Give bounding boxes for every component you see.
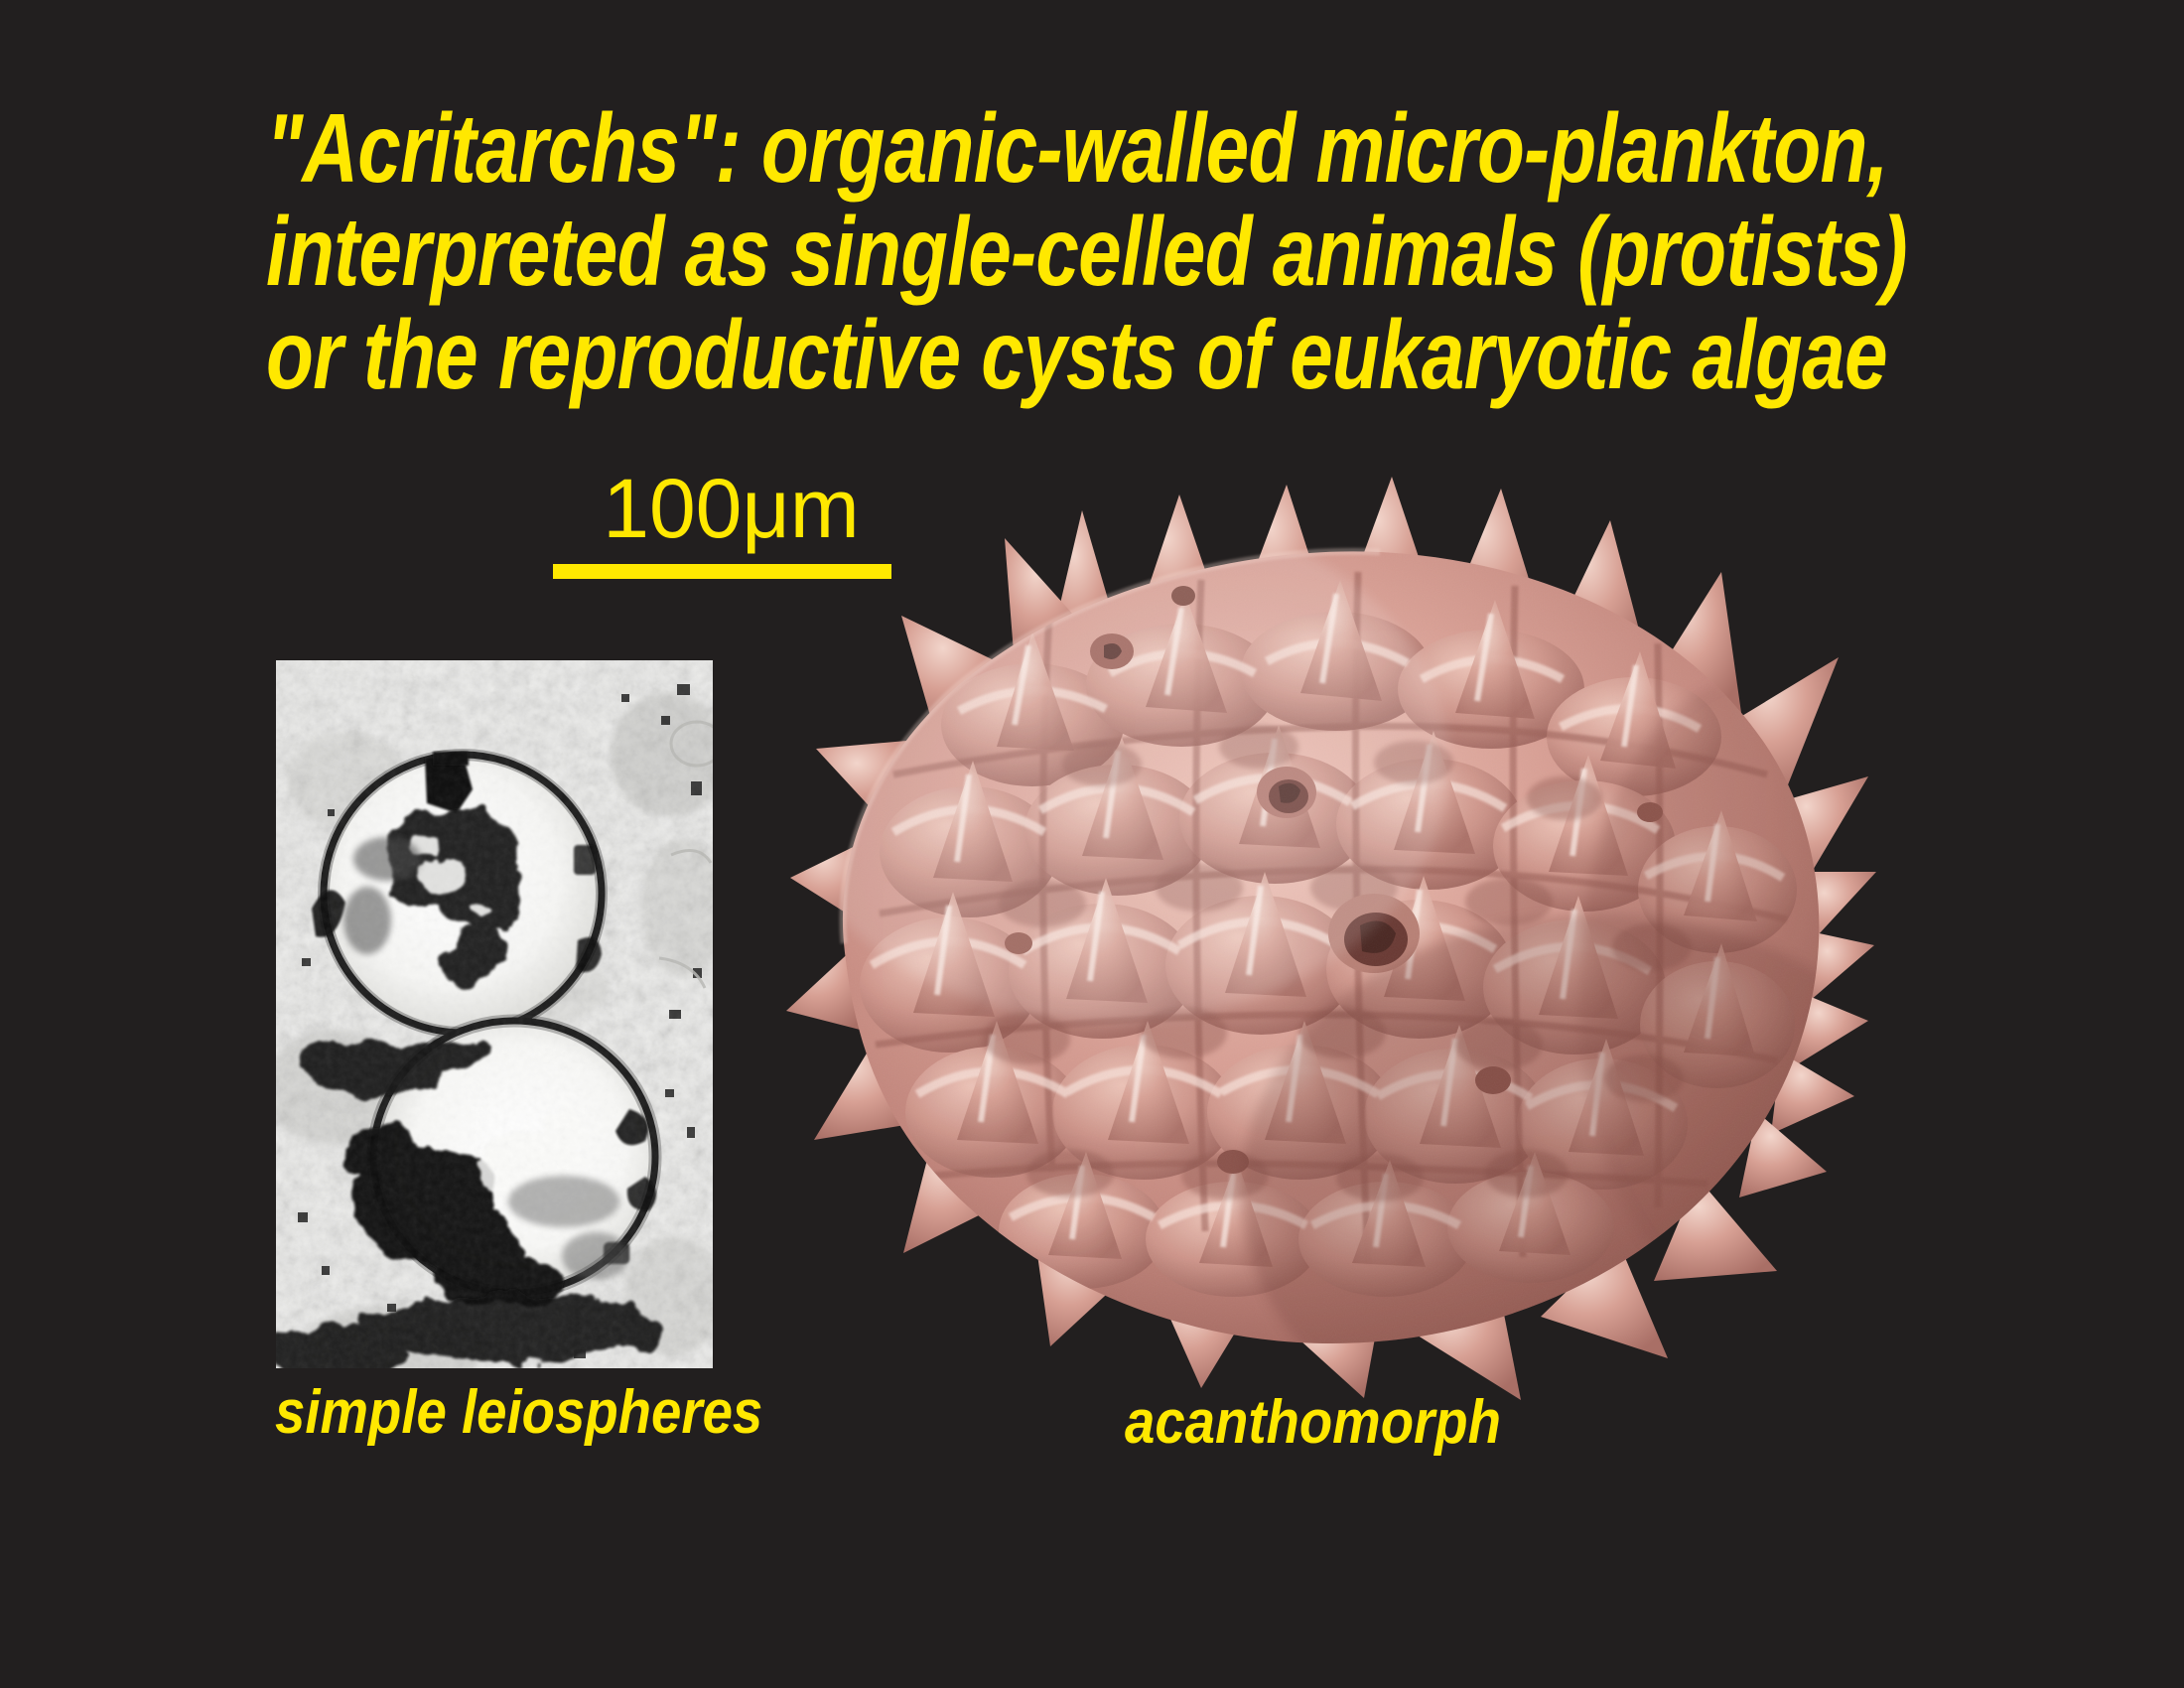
page-title: "Acritarchs": organic-walled micro-plank… [266, 97, 1954, 407]
caption-simple-leiospheres: simple leiospheres [275, 1382, 762, 1444]
figure-acanthomorph [784, 477, 1876, 1400]
figure-simple-leiospheres [276, 660, 713, 1368]
title-line-1: "Acritarchs": organic-walled micro-plank… [266, 97, 1616, 201]
title-line-2: interpreted as single-celled animals (pr… [266, 201, 1616, 304]
caption-acanthomorph: acanthomorph [1125, 1392, 1501, 1454]
acanthomorph-sem-image [784, 477, 1876, 1400]
title-line-3: or the reproductive cysts of eukaryotic … [266, 304, 1616, 407]
slide-canvas: "Acritarchs": organic-walled micro-plank… [0, 0, 2184, 1688]
leiosphere-micrograph-image [276, 660, 713, 1368]
